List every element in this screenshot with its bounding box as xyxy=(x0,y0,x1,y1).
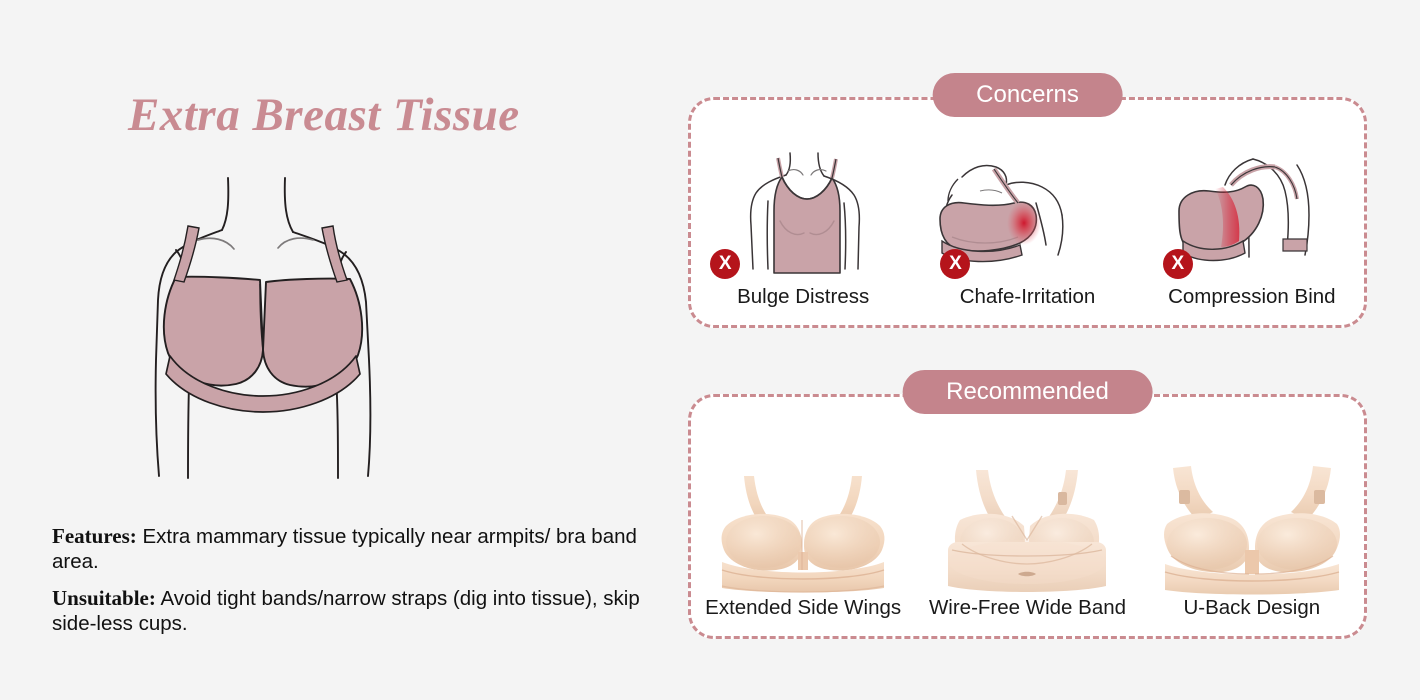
side-torso-chafing-illustration: X xyxy=(932,141,1122,281)
concern-card-compression-bind: X Compression Bind xyxy=(1147,141,1357,325)
recommended-card-wire-free-wide-band: Wire-Free Wide Band xyxy=(922,454,1132,636)
features-text: Extra mammary tissue typically near armp… xyxy=(52,525,637,573)
recommended-card-row: Extended Side Wings xyxy=(691,397,1364,636)
page-title: Extra Breast Tissue xyxy=(128,88,520,142)
side-profile-compression-illustration: X xyxy=(1157,141,1347,281)
concern-label: Bulge Distress xyxy=(737,285,869,309)
concern-label: Chafe-Irritation xyxy=(960,285,1096,309)
unsuitable-row: Unsuitable: Avoid tight bands/narrow str… xyxy=(52,586,652,636)
concern-card-bulge-distress: X Bulge Distress xyxy=(698,141,908,325)
infographic-page: Extra Breast Tissue xyxy=(0,0,1420,700)
concerns-card-row: X Bulge Distress xyxy=(691,100,1364,325)
info-block: Features: Extra mammary tissue typically… xyxy=(52,524,652,648)
bra-extended-side-wings-photo xyxy=(708,454,898,594)
recommended-card-u-back-design: U-Back Design xyxy=(1147,454,1357,636)
features-row: Features: Extra mammary tissue typically… xyxy=(52,524,652,574)
concern-x-icon: X xyxy=(710,249,740,279)
bra-wire-free-wide-band-photo xyxy=(932,454,1122,594)
concern-x-icon: X xyxy=(1163,249,1193,279)
torso-camisole-bulge-illustration: X xyxy=(708,141,898,281)
recommended-label: Wire-Free Wide Band xyxy=(929,596,1126,620)
recommended-panel: Recommended xyxy=(688,394,1367,639)
recommended-label: Extended Side Wings xyxy=(705,596,901,620)
concerns-panel: Concerns xyxy=(688,97,1367,328)
concern-card-chafe-irritation: X Chafe-Irritation xyxy=(922,141,1132,325)
unsuitable-label: Unsuitable: xyxy=(52,586,156,610)
bra-u-back-design-photo xyxy=(1157,454,1347,594)
features-label: Features: xyxy=(52,524,137,548)
torso-in-bra-illustration xyxy=(150,160,480,510)
recommended-label: U-Back Design xyxy=(1183,596,1320,620)
recommended-card-extended-side-wings: Extended Side Wings xyxy=(698,454,908,636)
concern-label: Compression Bind xyxy=(1168,285,1336,309)
left-column: Extra Breast Tissue xyxy=(0,0,672,700)
